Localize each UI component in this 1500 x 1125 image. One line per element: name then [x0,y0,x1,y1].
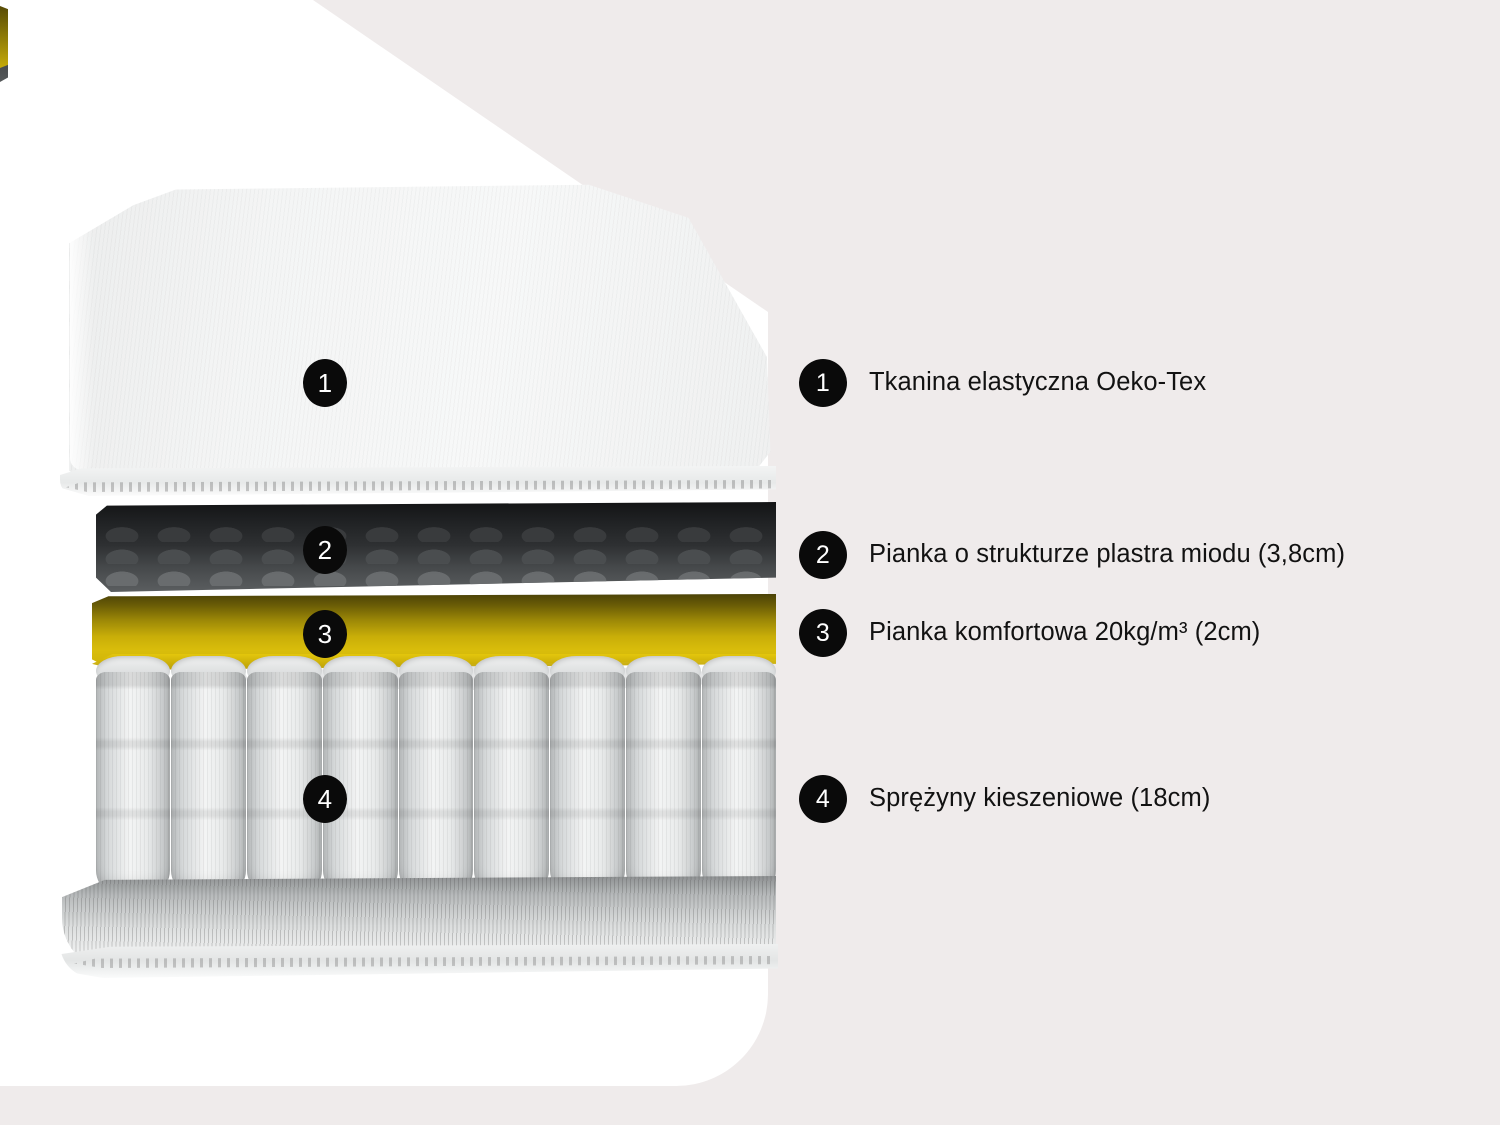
cover-edge-highlight [70,194,94,470]
layer-marker-1: 1 [303,359,347,407]
mattress-illustration: 1 2 3 4 [0,0,790,1010]
pocket-spring-barrel [399,672,474,890]
pocket-spring [94,672,172,890]
legend-label-2: Pianka o strukturze plastra miodu (3,8cm… [869,540,1345,569]
pocket-spring [700,672,778,890]
layer-marker-4: 4 [303,775,347,823]
diagram-stage: 1 2 3 4 1 Tkanina elastyczna Oeko-Tex 2 … [0,0,1500,1125]
pocket-spring [397,672,475,890]
legend-item-1: 1 Tkanina elastyczna Oeko-Tex [799,359,1206,407]
pocket-spring [624,672,702,890]
legend-item-4: 4 Sprężyny kieszeniowe (18cm) [799,775,1210,823]
pocket-spring-barrel [474,672,549,890]
legend-badge-4: 4 [799,775,847,823]
legend-badge-2: 2 [799,531,847,579]
legend-badge-3: 3 [799,609,847,657]
legend-badge-1: 1 [799,359,847,407]
comfort-foam-left-edge [0,6,8,68]
honeycomb-wave-crest [96,560,776,586]
cover-knit-texture [62,180,774,496]
pocket-spring-barrel [171,672,246,890]
pocket-spring [170,672,248,890]
mattress-layer-honeycomb-foam [96,502,776,592]
layer-marker-3: 3 [303,610,347,658]
legend-item-2: 2 Pianka o strukturze plastra miodu (3,8… [799,531,1345,579]
legend-label-1: Tkanina elastyczna Oeko-Tex [869,368,1206,397]
pocket-spring-barrel [626,672,701,890]
honeycomb-foam-body [96,502,776,592]
pocket-spring-barrel [702,672,777,890]
legend: 1 Tkanina elastyczna Oeko-Tex 2 Pianka o… [799,0,1489,1125]
pocket-spring [473,672,551,890]
layer-marker-2: 2 [303,526,347,574]
mattress-layer-cover [62,180,774,496]
pocket-spring-barrel [96,672,171,890]
mattress-layer-pocket-springs [94,672,776,890]
pocket-spring-barrel [550,672,625,890]
pocket-spring-row [94,672,776,890]
legend-label-3: Pianka komfortowa 20kg/m³ (2cm) [869,618,1260,647]
pocket-spring [549,672,627,890]
legend-item-3: 3 Pianka komfortowa 20kg/m³ (2cm) [799,609,1260,657]
legend-label-4: Sprężyny kieszeniowe (18cm) [869,784,1210,813]
